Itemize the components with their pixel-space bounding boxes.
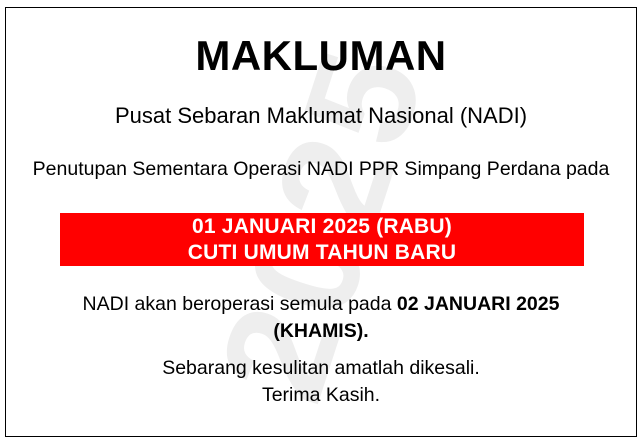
notice-card: 2025 MAKLUMAN Pusat Sebaran Maklumat Nas… (5, 7, 637, 437)
page-title: MAKLUMAN (6, 34, 636, 78)
banner-date-line: 01 JANUARI 2025 (RABU) (192, 214, 452, 240)
reopen-prefix-text: NADI akan beroperasi semula pada (83, 293, 397, 315)
thanks-line: Terima Kasih. (36, 382, 606, 409)
notice-content: MAKLUMAN Pusat Sebaran Maklumat Nasional… (6, 8, 636, 436)
closure-date-banner: 01 JANUARI 2025 (RABU) CUTI UMUM TAHUN B… (60, 213, 584, 266)
closing-remarks: Sebarang kesulitan amatlah dikesali. Ter… (36, 355, 606, 409)
banner-holiday-line: CUTI UMUM TAHUN BARU (188, 240, 456, 266)
reopen-notice: NADI akan beroperasi semula pada 02 JANU… (46, 291, 596, 345)
apology-line: Sebarang kesulitan amatlah dikesali. (36, 355, 606, 382)
organisation-name: Pusat Sebaran Maklumat Nasional (NADI) (6, 103, 636, 129)
closure-announcement-text: Penutupan Sementara Operasi NADI PPR Sim… (32, 156, 610, 182)
